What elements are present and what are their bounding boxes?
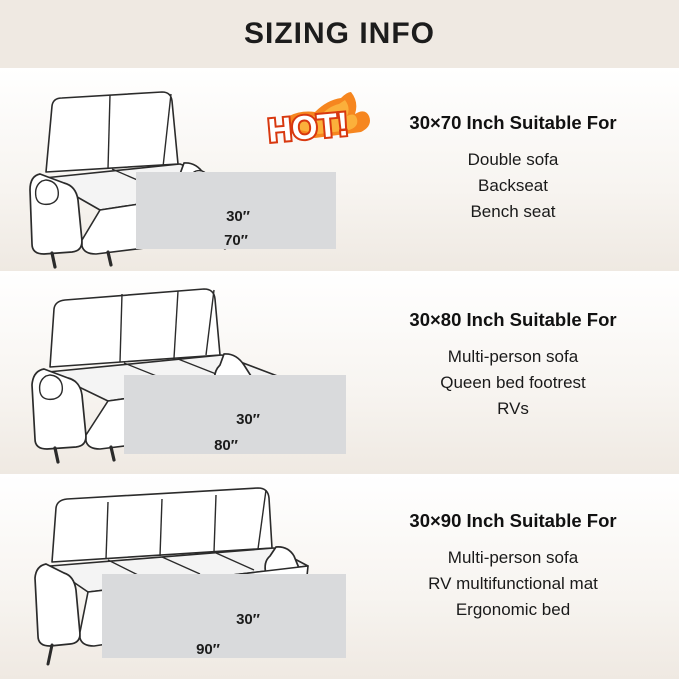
page-header: SIZING INFO xyxy=(0,0,679,68)
use-item: Double sofa xyxy=(353,147,673,173)
size-row-30x70: 30″ 70″ HOT! 30×70 Inch Suitable For Dou… xyxy=(0,68,679,271)
use-item: RV multifunctional mat xyxy=(353,571,673,597)
sofa-illustration-80 xyxy=(8,271,358,474)
use-list-80: Multi-person sofa Queen bed footrest RVs xyxy=(353,344,673,421)
use-item: Multi-person sofa xyxy=(353,344,673,370)
size-text-column-80: 30×80 Inch Suitable For Multi-person sof… xyxy=(353,271,673,474)
use-item: Ergonomic bed xyxy=(353,597,673,623)
use-item: RVs xyxy=(353,396,673,422)
use-item: Multi-person sofa xyxy=(353,545,673,571)
use-list-70: Double sofa Backseat Bench seat xyxy=(353,147,673,224)
size-text-column-90: 30×90 Inch Suitable For Multi-person sof… xyxy=(353,474,673,679)
size-row-30x90: 30″ 90″ 30×90 Inch Suitable For Multi-pe… xyxy=(0,474,679,679)
use-item: Queen bed footrest xyxy=(353,370,673,396)
size-title-70: 30×70 Inch Suitable For xyxy=(353,112,673,134)
use-item: Backseat xyxy=(353,173,673,199)
size-title-80: 30×80 Inch Suitable For xyxy=(353,309,673,331)
size-row-30x80: 30″ 80″ 30×80 Inch Suitable For Multi-pe… xyxy=(0,271,679,474)
size-title-90: 30×90 Inch Suitable For xyxy=(353,510,673,532)
use-item: Bench seat xyxy=(353,199,673,225)
sofa-illustration-90 xyxy=(8,474,358,679)
sizing-info-page: SIZING INFO xyxy=(0,0,679,679)
size-text-column-70: 30×70 Inch Suitable For Double sofa Back… xyxy=(353,68,673,271)
page-title: SIZING INFO xyxy=(244,17,435,51)
use-list-90: Multi-person sofa RV multifunctional mat… xyxy=(353,545,673,622)
hot-badge-text: HOT! xyxy=(266,105,350,149)
svg-text:HOT!: HOT! xyxy=(266,105,350,149)
